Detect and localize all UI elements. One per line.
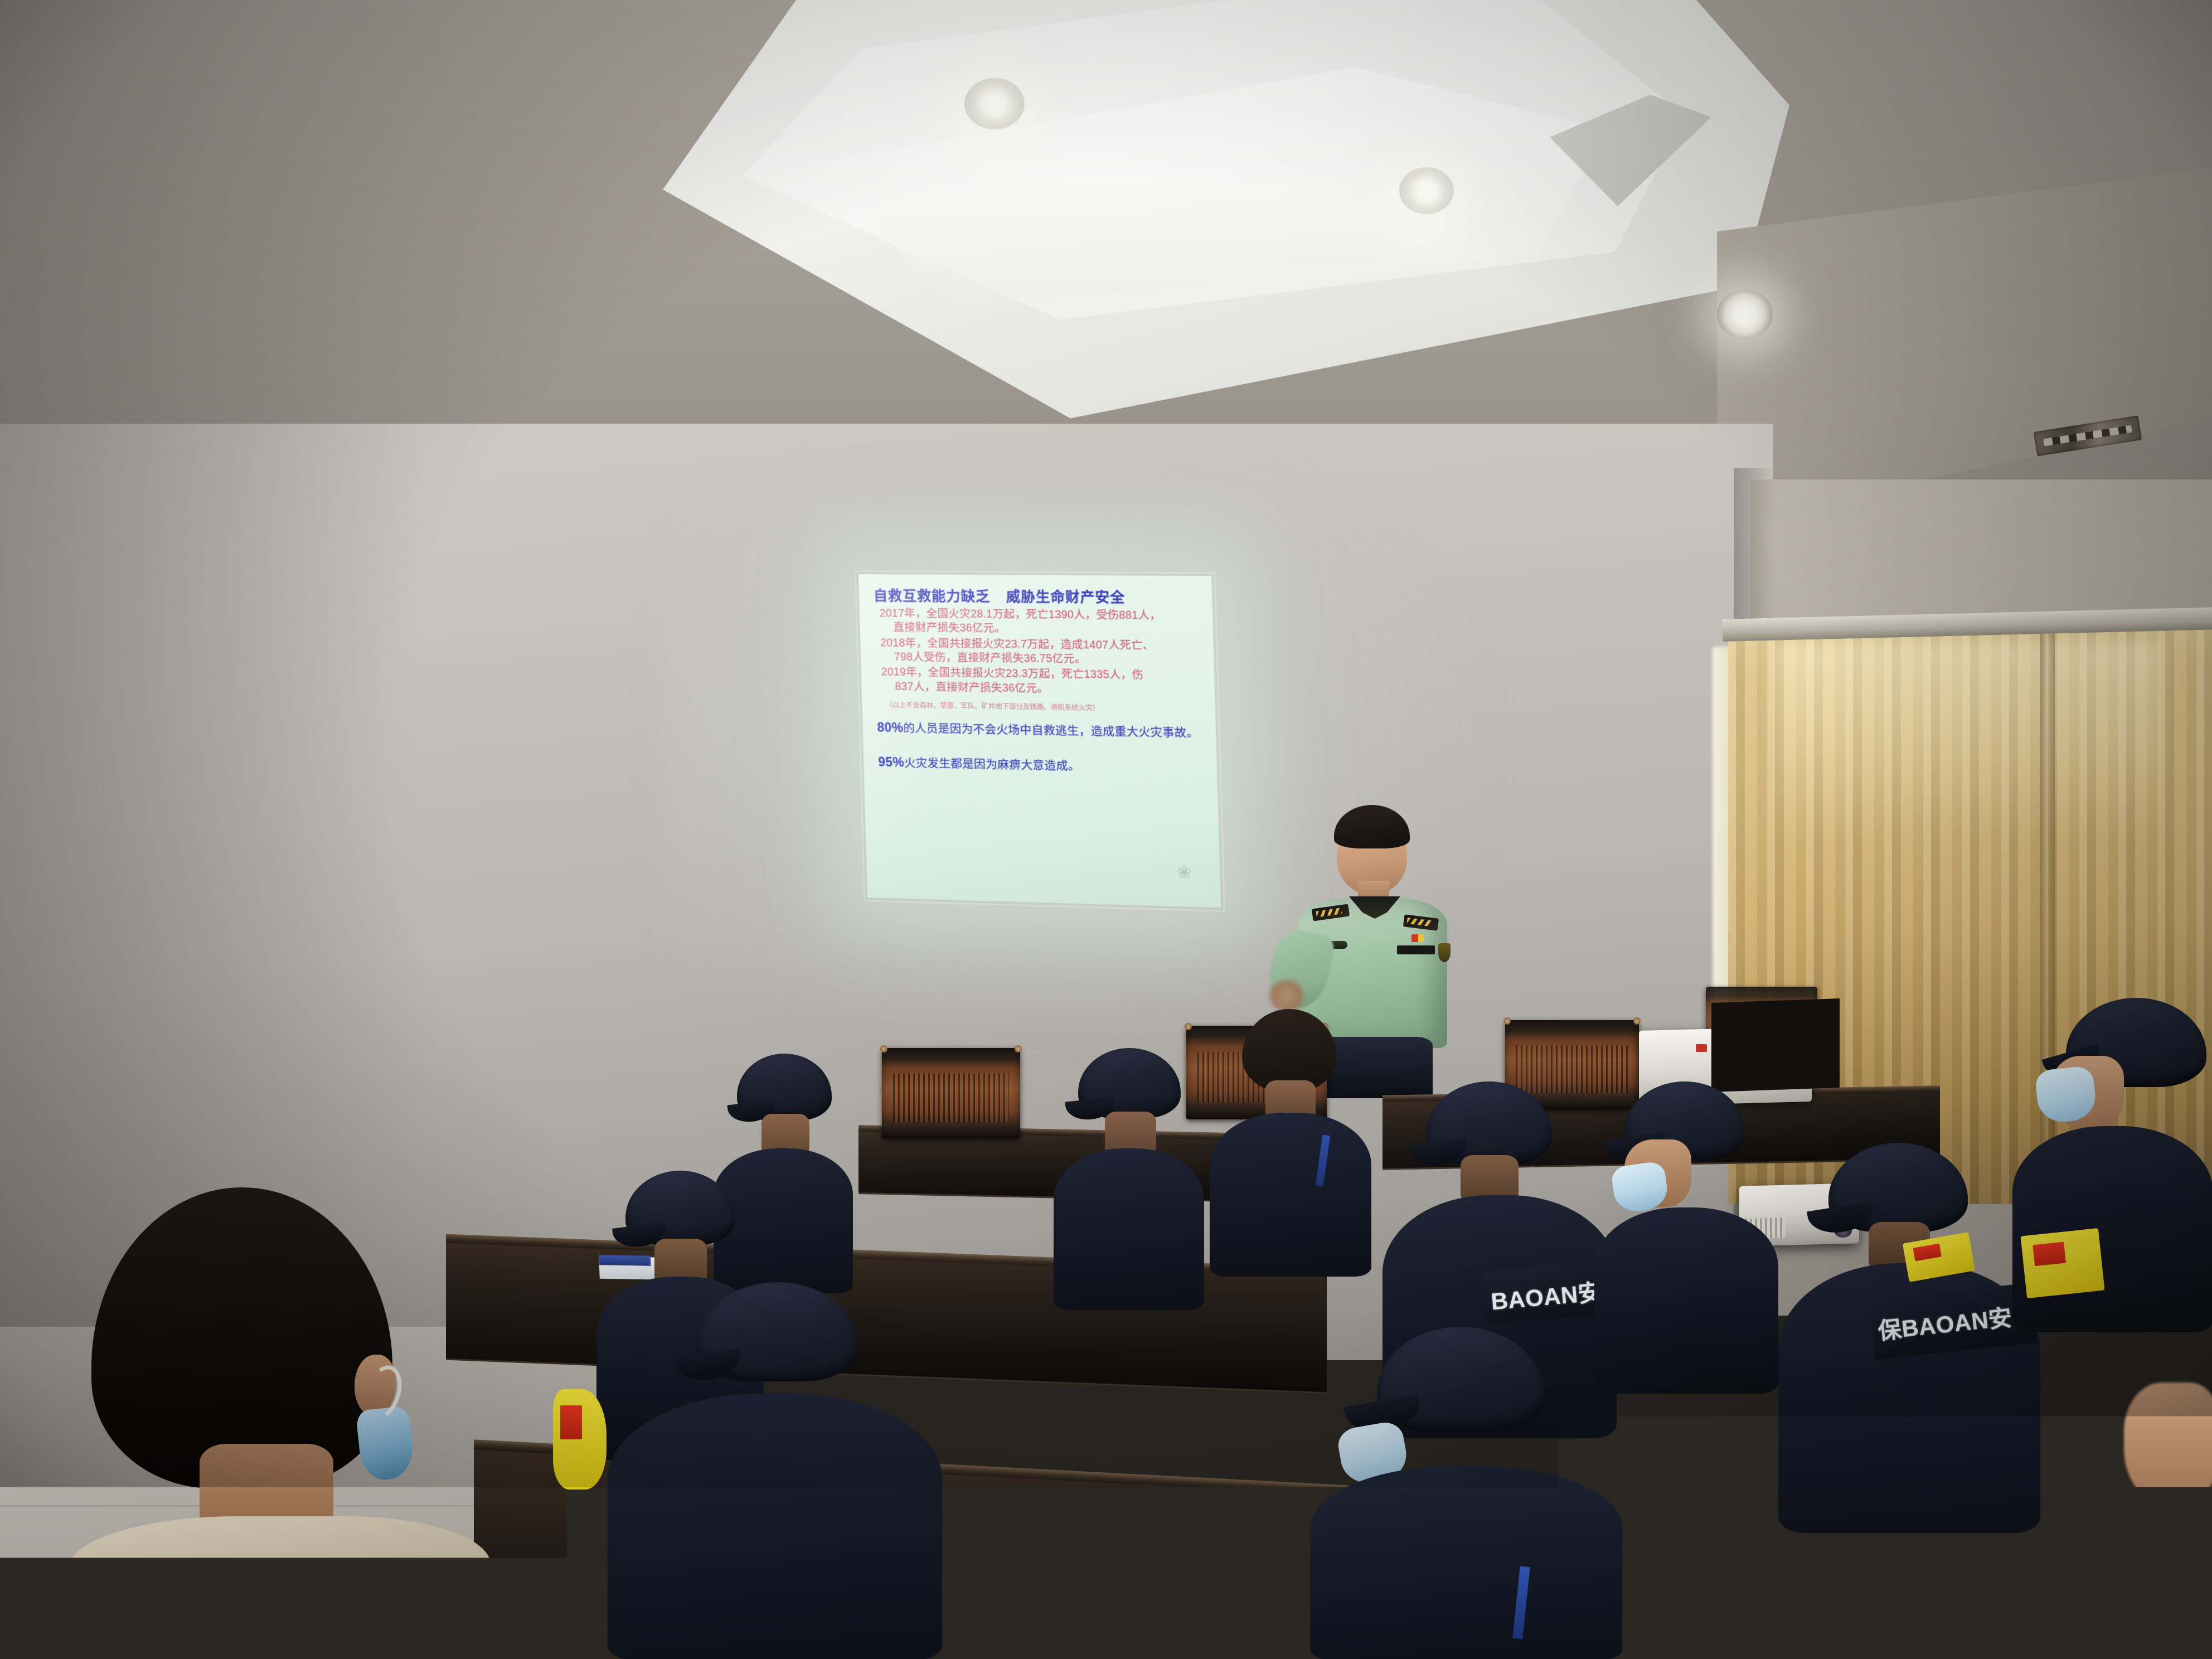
- foreground-hand-right: [2124, 1382, 2212, 1505]
- attendee-torso: [1210, 1113, 1371, 1277]
- projected-slide: 自救互救能力缺乏威胁生命财产安全 2017年，全国火灾28.1万起，死亡1390…: [858, 574, 1221, 908]
- presenter-nametag: [1397, 945, 1435, 954]
- highlight-80-text: 的人员是因为不会火场中自救逃生，造成重大火灾事故。: [903, 722, 1199, 740]
- attendee-center: [1210, 1009, 1371, 1277]
- attendee-torso: [2012, 1126, 2212, 1332]
- conference-room-photo: 自救互救能力缺乏威胁生命财产安全 2017年，全国火灾28.1万起，死亡1390…: [0, 0, 2212, 1659]
- attendee-torso: [1661, 1516, 2007, 1659]
- presenter-hand: [1270, 980, 1303, 1011]
- stat-2019-line2: 837人，直接财产损失36亿元。: [876, 680, 1202, 698]
- attendee-torso: [1310, 1466, 1622, 1659]
- attendee-cap-brim-icon: [1807, 1201, 1876, 1237]
- attendee-torso: [608, 1394, 942, 1659]
- stat-2017-line1: 2017年，全国火灾28.1万起，死亡1390人，受伤881人，: [880, 607, 1161, 622]
- presenter-flag-pin-icon: [1411, 934, 1424, 942]
- curtain-backlight: [1773, 641, 2163, 842]
- attendee-armband: [553, 1389, 607, 1490]
- slide-stat-2019: 2019年，全国共接报火灾23.3万起，死亡1335人，伤 837人，直接财产损…: [875, 666, 1202, 698]
- attendee-torso: [1054, 1148, 1204, 1310]
- case-latch-icon: [1696, 1044, 1707, 1052]
- highlight-95-pct: 95%: [878, 755, 904, 770]
- stat-2019-line1: 2019年，全国共接报火灾23.3万起，死亡1335人，伤: [881, 666, 1143, 682]
- highlight-95-text: 火灾发生都是因为麻痹大意造成。: [904, 756, 1080, 773]
- foreground-person-shirt: [67, 1516, 491, 1659]
- attendee-cap: [1745, 1416, 1929, 1527]
- slide-stat-2018: 2018年，全国共接报火灾23.7万起，造成1407人死亡、 798人受伤，直接…: [875, 636, 1201, 668]
- slide-title-part2: 威胁生命财产安全: [1006, 589, 1125, 606]
- slide-title-part1: 自救互救能力缺乏: [874, 588, 991, 605]
- stat-2018-line1: 2018年，全国共接报火灾23.7万起，造成1407人死亡、: [880, 637, 1154, 652]
- ceiling-downlight-icon: [1717, 290, 1773, 339]
- attendee-front-right-dark: [1661, 1416, 2007, 1659]
- slide-stat-2017: 2017年，全国火灾28.1万起，死亡1390人，受伤881人， 直接财产损失3…: [874, 607, 1201, 638]
- chair-back-left: [882, 1048, 1020, 1138]
- slide-footnote: （以上不含森林、草原、军队、矿井地下部分及铁路、港航系统火灾）: [885, 699, 1202, 715]
- presenter-arm-badge-icon: [1438, 943, 1451, 962]
- slide-highlight-95: 95%火灾发生都是因为麻痹大意造成。: [878, 754, 1204, 776]
- presenter-hair: [1334, 805, 1410, 848]
- attendee-front-center-dark: [1310, 1327, 1622, 1659]
- slide-watermark-icon: ❀: [1177, 864, 1208, 900]
- ceiling-downlight-icon: [1399, 167, 1454, 214]
- attendee-armband: [2021, 1228, 2105, 1298]
- attendee-front-mid-row: [608, 1282, 942, 1659]
- ceiling-downlight-icon: [964, 78, 1025, 129]
- attendee-front-left: [591, 1048, 630, 1081]
- slide-highlight-80: 80%的人员是因为不会火场中自救逃生，造成重大火灾事故。: [877, 719, 1203, 740]
- stat-2017-line2: 直接财产损失36亿元。: [874, 621, 1200, 638]
- highlight-80-pct: 80%: [877, 720, 903, 735]
- slide-title: 自救互救能力缺乏威胁生命财产安全: [874, 589, 1200, 606]
- dark-board-behind: [1711, 998, 1840, 1092]
- stat-2018-line2: 798人受伤，直接财产损失36.75亿元。: [875, 650, 1201, 668]
- foreground-person: [67, 1187, 491, 1659]
- attendee-center-left: [1054, 1048, 1204, 1310]
- attendee-guard-wall-right: [2012, 998, 2212, 1332]
- foreground-person-hair: [91, 1187, 392, 1488]
